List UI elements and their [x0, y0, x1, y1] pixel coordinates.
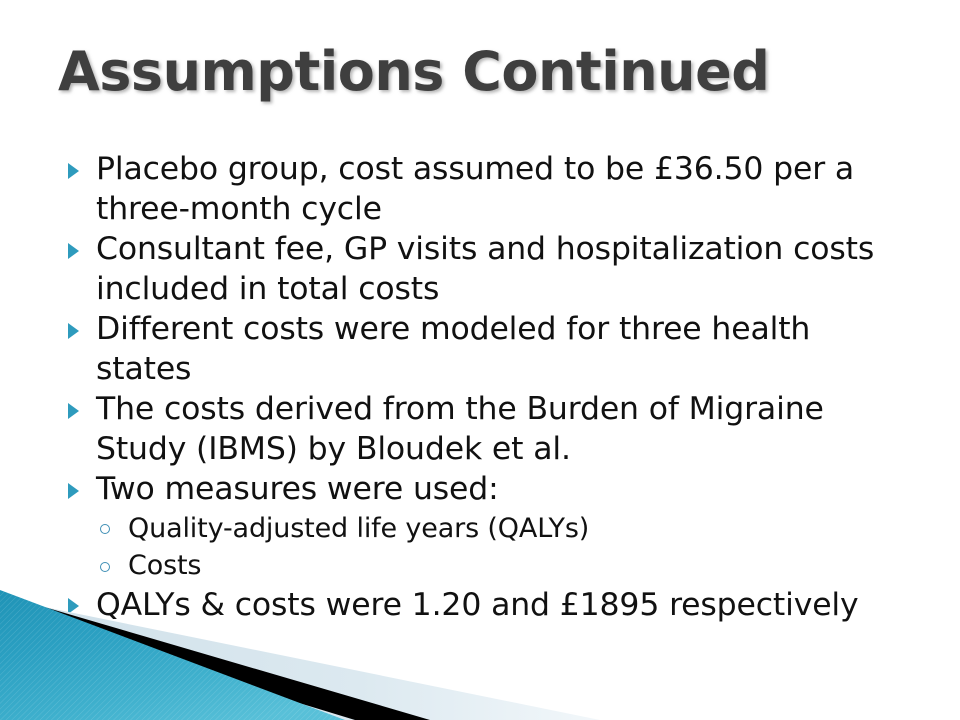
list-item-text: The costs derived from the Burden of Mig… — [96, 391, 824, 467]
list-item-text: Consultant fee, GP visits and hospitaliz… — [96, 231, 874, 307]
triangle-bullet-icon — [68, 243, 79, 259]
list-item: Consultant fee, GP visits and hospitaliz… — [62, 230, 902, 309]
list-item: The costs derived from the Burden of Mig… — [62, 390, 902, 469]
list-item-text: Two measures were used: — [96, 471, 499, 507]
triangle-bullet-icon — [68, 323, 79, 339]
triangle-bullet-icon — [68, 163, 79, 179]
list-item: Placebo group, cost assumed to be £36.50… — [62, 150, 902, 229]
list-item-sub: Costs — [62, 548, 902, 584]
bullet-list: Placebo group, cost assumed to be £36.50… — [62, 150, 902, 626]
list-item-text: Costs — [128, 550, 201, 581]
triangle-bullet-icon — [68, 403, 79, 419]
list-item-text: Different costs were modeled for three h… — [96, 311, 810, 387]
list-item-text: Quality-adjusted life years (QALYs) — [128, 513, 589, 544]
list-item-text: Placebo group, cost assumed to be £36.50… — [96, 151, 854, 227]
list-item: Different costs were modeled for three h… — [62, 310, 902, 389]
list-item-text: QALYs & costs were 1.20 and £1895 respec… — [96, 587, 859, 623]
circle-bullet-icon — [100, 562, 110, 572]
list-item-sub: Quality-adjusted life years (QALYs) — [62, 511, 902, 547]
slide: Assumptions Continued Placebo group, cos… — [0, 0, 960, 720]
list-item: Two measures were used: — [62, 470, 902, 510]
triangle-bullet-icon — [68, 483, 79, 499]
list-item: QALYs & costs were 1.20 and £1895 respec… — [62, 586, 902, 626]
circle-bullet-icon — [100, 524, 110, 534]
page-title: Assumptions Continued — [58, 44, 918, 101]
triangle-bullet-icon — [68, 598, 79, 614]
